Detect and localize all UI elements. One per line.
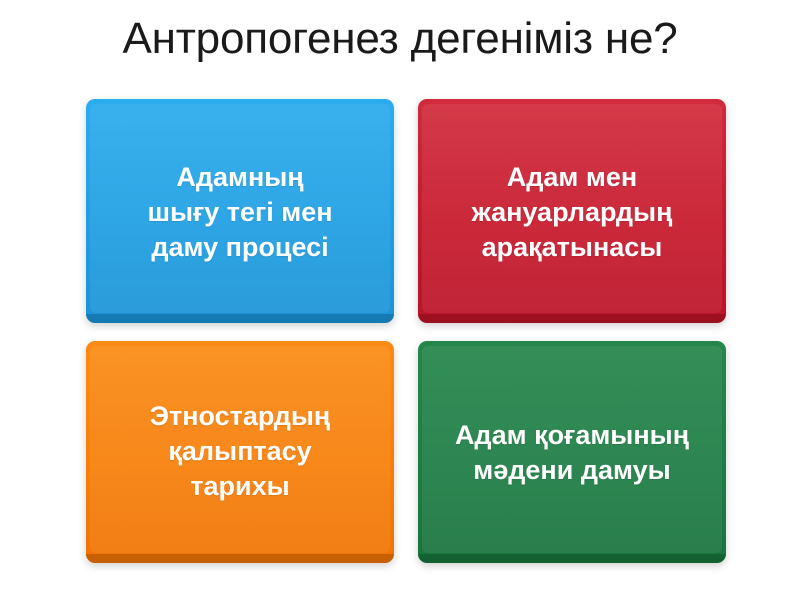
answer-option-3[interactable]: Этностардың қалыптасу тарихы <box>86 341 394 563</box>
quiz-screen: Антропогенез дегеніміз не? Адамның шығу … <box>0 0 800 600</box>
answer-option-1[interactable]: Адамның шығу тегі мен даму процесі <box>86 99 394 323</box>
answer-option-2-label: Адам мен жануарлардың арақатынасы <box>472 160 673 265</box>
answer-option-1-label: Адамның шығу тегі мен даму процесі <box>147 160 332 265</box>
answer-options-grid: Адамның шығу тегі мен даму процесі Адам … <box>86 99 714 563</box>
page-title: Антропогенез дегеніміз не? <box>0 12 800 66</box>
answer-option-4-label: Адам қоғамының мәдени дамуы <box>455 418 689 488</box>
answer-option-2[interactable]: Адам мен жануарлардың арақатынасы <box>418 99 726 323</box>
answer-option-3-label: Этностардың қалыптасу тарихы <box>150 399 330 504</box>
answer-option-4[interactable]: Адам қоғамының мәдени дамуы <box>418 341 726 563</box>
